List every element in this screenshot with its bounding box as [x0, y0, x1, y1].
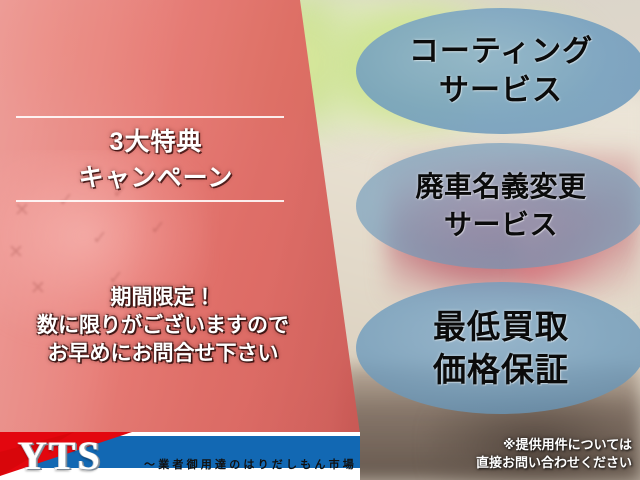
note-line-2: 直接お問い合わせください — [476, 454, 632, 472]
logo-wordmark: YTS — [18, 435, 102, 477]
service-2-line-2: サービス — [444, 206, 558, 244]
headline-rule-top — [16, 116, 284, 118]
headline-block: 3大特典 キャンペーン — [16, 124, 296, 196]
promo-line-3: お早めにお問合せ下さい — [0, 340, 326, 368]
promo-line-2: 数に限りがございますので — [0, 312, 326, 340]
service-2-line-1: 廃車名義変更 — [415, 168, 586, 206]
service-3-line-1: 最低買取 — [433, 305, 569, 348]
promo-line-1: 期間限定！ — [0, 284, 326, 312]
headline-rule-bottom — [16, 200, 284, 202]
campaign-banner: ✕ ✓ ✓ ✕ ✓ ✓ ✕ ✓ 3大特典 キャンペーン 期間限定！ 数に限りがご… — [0, 0, 640, 480]
service-1-line-2: サービス — [439, 71, 563, 110]
note-line-1: ※提供用件については — [476, 436, 632, 454]
service-1-line-1: コーティング — [409, 32, 593, 71]
service-3-line-2: 価格保証 — [433, 348, 569, 391]
promo-text-block: 期間限定！ 数に限りがございますので お早めにお問合せ下さい — [0, 284, 326, 368]
disclaimer-note: ※提供用件については 直接お問い合わせください — [476, 436, 632, 472]
headline-line-2: キャンペーン — [16, 160, 296, 196]
headline-line-1: 3大特典 — [16, 124, 296, 160]
service-ellipse-coating: コーティング サービス — [356, 8, 640, 134]
logo-tagline: 〜業者御用達のはりだしもん市場 — [144, 456, 357, 472]
service-ellipse-scrap-transfer: 廃車名義変更 サービス — [356, 143, 640, 269]
logo-bar: YTS 〜業者御用達のはりだしもん市場 — [0, 432, 360, 480]
service-ellipse-price-guarantee: 最低買取 価格保証 — [356, 282, 640, 414]
